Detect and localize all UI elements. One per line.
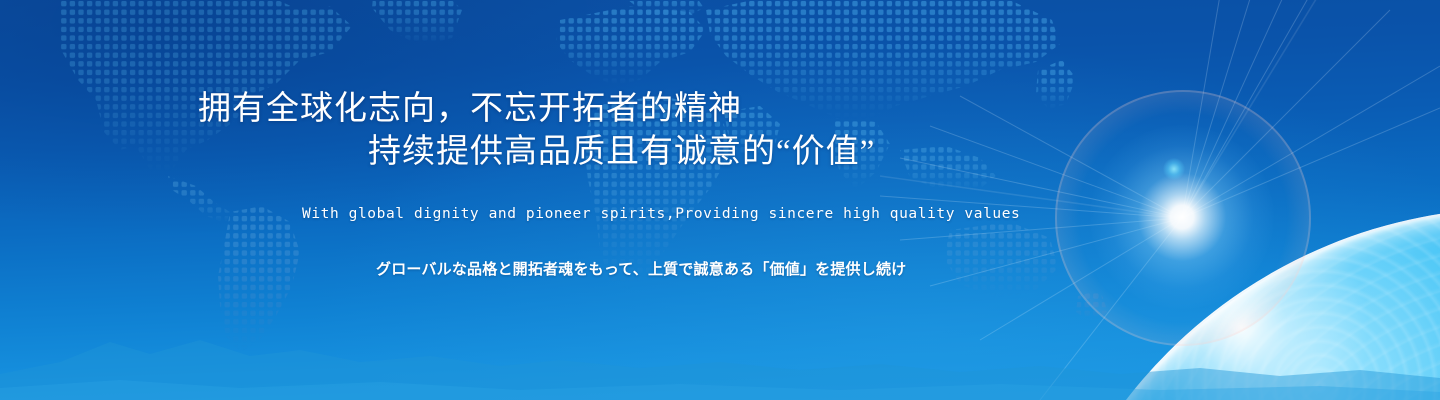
lens-flare-dot-graphic (1163, 158, 1185, 180)
globe-texture (1026, 210, 1440, 400)
banner-copy: 拥有全球化志向，不忘开拓者的精神 持续提供高品质且有诚意的“价值” With g… (0, 0, 1100, 400)
hero-banner: 拥有全球化志向，不忘开拓者的精神 持续提供高品质且有诚意的“价值” With g… (0, 0, 1440, 400)
mountain-silhouette-graphic (0, 270, 1440, 400)
sunburst-flare-graphic (1180, 215, 1184, 219)
earth-globe-graphic (930, 0, 1440, 400)
headline-line-2: 持续提供高品质且有诚意的“价值” (368, 131, 875, 173)
subline-japanese: グローバルな品格と開拓者魂をもって、上質で誠意ある「価値」を提供し続け (376, 258, 906, 279)
light-rays-graphic (0, 0, 1440, 400)
dot-world-map-graphic (0, 0, 1440, 400)
sun-core (1090, 125, 1274, 309)
background-sheen (0, 0, 1440, 400)
globe-rim-light (1024, 208, 1440, 400)
headline-line-1: 拥有全球化志向，不忘开拓者的精神 (198, 88, 742, 130)
sun-halo (1055, 90, 1311, 346)
subline-english: With global dignity and pioneer spirits,… (302, 206, 1020, 222)
